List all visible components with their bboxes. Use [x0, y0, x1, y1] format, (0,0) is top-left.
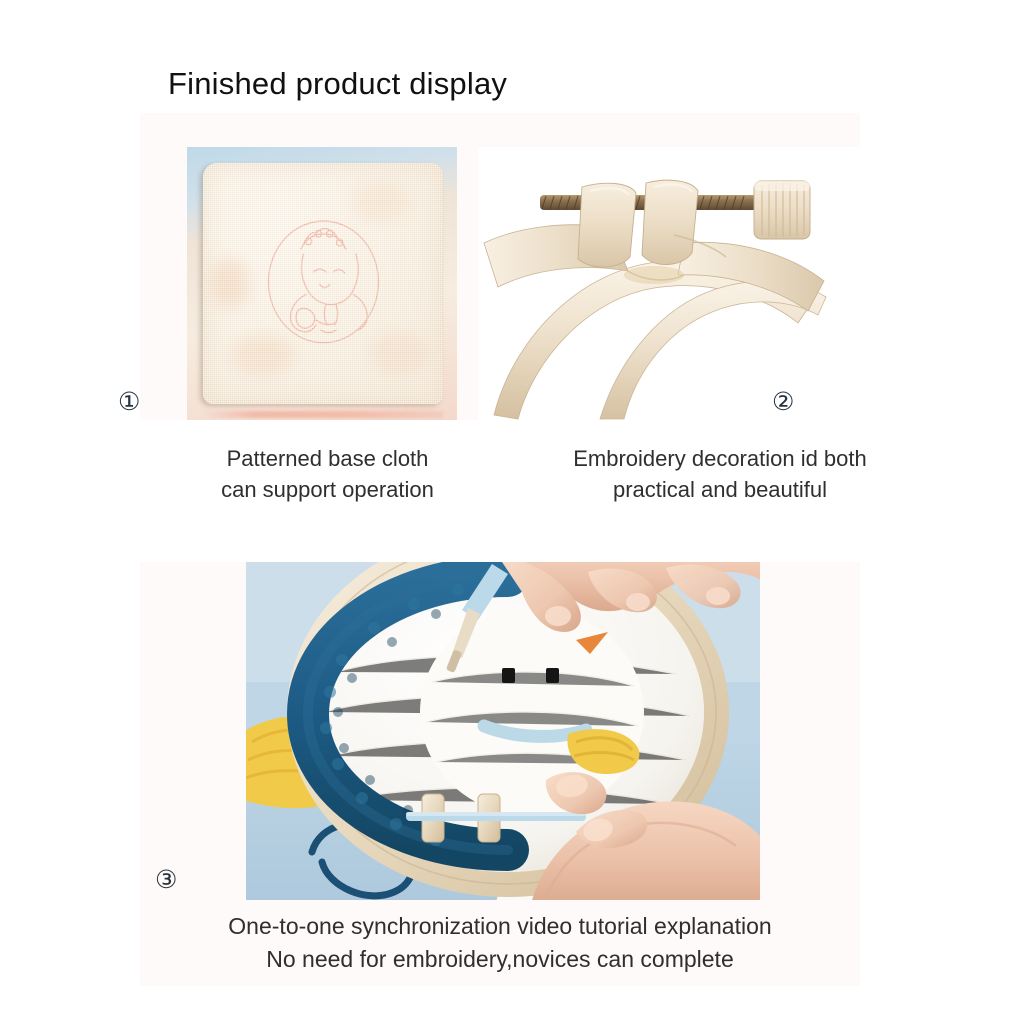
- punch-needle-illustration: [246, 562, 760, 900]
- page-title: Finished product display: [168, 66, 507, 102]
- caption-1: Patterned base cloth can support operati…: [155, 443, 500, 505]
- marker-1: ①: [118, 390, 140, 415]
- punch-needle-tutorial-photo: [246, 562, 760, 900]
- embroidery-hoop-clamp-photo: [478, 147, 860, 420]
- cloth-shade: [371, 332, 429, 375]
- printed-pattern-outline: [261, 211, 386, 350]
- product-display-page: Finished product display: [0, 0, 1024, 1024]
- caption-3: One-to-one synchronization video tutoria…: [140, 910, 860, 976]
- marker-3: ③: [155, 868, 177, 893]
- photo3-scene: [246, 562, 760, 900]
- caption-2: Embroidery decoration id both practical …: [520, 443, 920, 505]
- caption-3-line-2: No need for embroidery,novices can compl…: [140, 943, 860, 976]
- cloth-shade: [352, 183, 410, 221]
- caption-3-line-1: One-to-one synchronization video tutoria…: [140, 910, 860, 943]
- caption-2-line-1: Embroidery decoration id both: [520, 443, 920, 474]
- caption-1-line-1: Patterned base cloth: [155, 443, 500, 474]
- photo1-cloth: [203, 163, 443, 403]
- caption-2-line-2: practical and beautiful: [520, 474, 920, 505]
- hoop-clamp-illustration: [478, 147, 860, 420]
- marker-2: ②: [772, 390, 794, 415]
- cloth-shade: [232, 336, 294, 374]
- patterned-base-cloth-photo: [187, 147, 457, 420]
- cloth-hem: [203, 411, 443, 418]
- caption-1-line-2: can support operation: [155, 474, 500, 505]
- cloth-shade: [210, 259, 248, 307]
